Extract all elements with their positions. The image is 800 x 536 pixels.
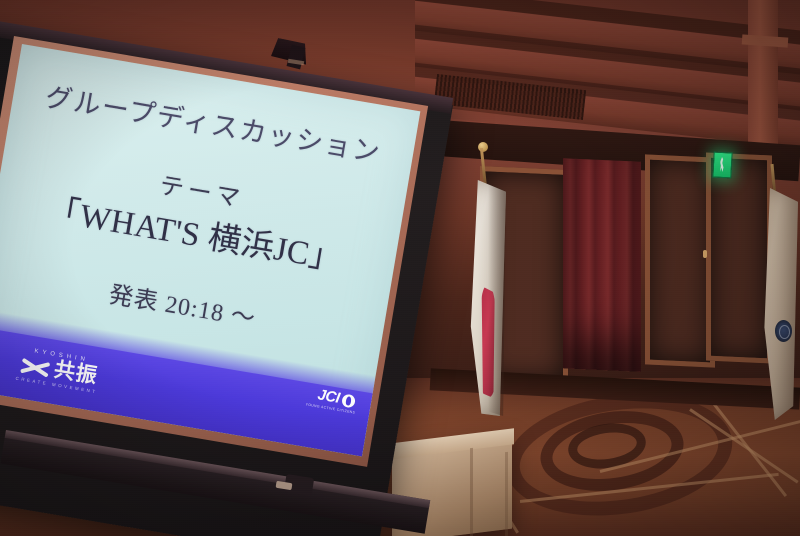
flag-cloth (758, 188, 798, 420)
kyoshin-logo: KYOSHIN 共振 CREATE MOVEMENT (0, 343, 120, 408)
slide-content: グループディスカッション テーマ 「WHAT'S 横浜JC」 発表 20:18 … (0, 44, 420, 456)
projection-screen-assembly: グループディスカッション テーマ 「WHAT'S 横浜JC」 発表 20:18 … (0, 0, 470, 536)
jci-globe-icon (341, 393, 356, 408)
jci-flag-emblem (775, 320, 792, 342)
tablecloth-fold (505, 452, 508, 536)
projected-slide: グループディスカッション テーマ 「WHAT'S 横浜JC」 発表 20:18 … (0, 44, 420, 456)
emergency-exit-sign (712, 152, 732, 179)
running-man-icon (720, 157, 725, 172)
flag-shadow (488, 182, 506, 416)
wall-panel (645, 154, 715, 367)
wall-panel-group (470, 150, 800, 400)
jci-flag (758, 178, 798, 428)
kyoshin-x-icon (19, 354, 52, 379)
photo-scene: グループディスカッション テーマ 「WHAT'S 横浜JC」 発表 20:18 … (0, 0, 800, 536)
red-curtain (563, 158, 641, 372)
tablecloth-fold (470, 448, 473, 536)
jci-wordmark: JCI (317, 387, 341, 405)
door-handle[interactable] (703, 250, 707, 258)
